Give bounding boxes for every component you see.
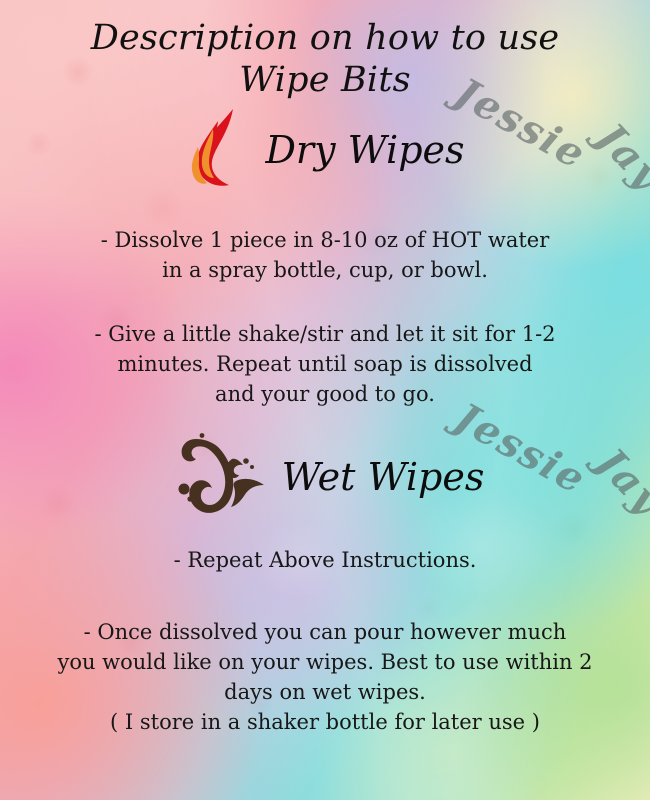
title-line-2: Wipe Bits (0, 59, 650, 101)
water-splash-icon (166, 433, 274, 521)
poster-title: Description on how to use Wipe Bits (0, 0, 650, 101)
section-heading-dry-wipes: Dry Wipes (0, 105, 650, 195)
wipe-bits-instruction-poster: Description on how to use Wipe Bits Dry … (0, 0, 650, 800)
dry-wipes-paragraph-2: - Give a little shake/stir and let it si… (0, 319, 650, 409)
dry-wipes-paragraph-1: - Dissolve 1 piece in 8-10 oz of HOT wat… (0, 225, 650, 285)
section-heading-label: Wet Wipes (282, 455, 485, 499)
flame-icon (185, 105, 257, 195)
wet-wipes-paragraph-2: - Once dissolved you can pour however mu… (0, 617, 650, 737)
section-heading-label: Dry Wipes (265, 128, 464, 172)
poster-content: Description on how to use Wipe Bits Dry … (0, 0, 650, 800)
title-line-1: Description on how to use (0, 17, 650, 59)
wet-wipes-paragraph-1: - Repeat Above Instructions. (0, 545, 650, 575)
section-heading-wet-wipes: Wet Wipes (0, 433, 650, 521)
